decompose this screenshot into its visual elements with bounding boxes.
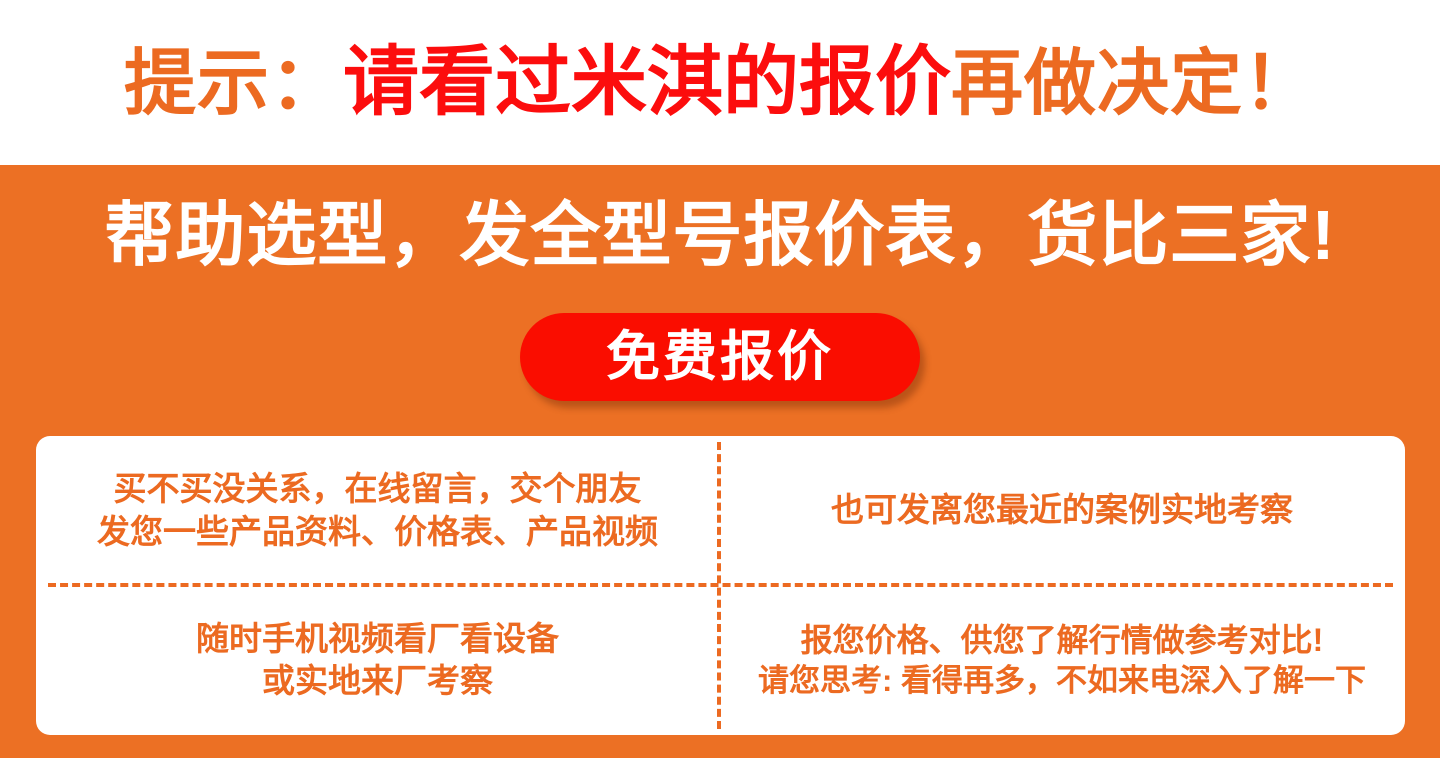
info-line: 买不买没关系，在线留言，交个朋友 bbox=[114, 468, 642, 510]
headline-emphasis: 请看过米淇的报价 bbox=[343, 40, 951, 125]
sub-headline: 帮助选型，发全型号报价表，货比三家! bbox=[0, 200, 1440, 270]
info-line: 报您价格、供您了解行情做参考对比! bbox=[801, 620, 1324, 661]
headline-strip: 提示：请看过米淇的报价再做决定！ bbox=[0, 0, 1440, 165]
info-line: 发您一些产品资料、价格表、产品视频 bbox=[97, 511, 658, 553]
info-card: 买不买没关系，在线留言，交个朋友 发您一些产品资料、价格表、产品视频 也可发离您… bbox=[36, 436, 1405, 735]
page-title: 提示：请看过米淇的报价再做决定！ bbox=[124, 45, 1316, 121]
info-line: 或实地来厂考察 bbox=[262, 660, 493, 702]
vertical-dashed-divider bbox=[717, 442, 721, 729]
promo-banner: 提示：请看过米淇的报价再做决定！ 帮助选型，发全型号报价表，货比三家! 免费报价… bbox=[0, 0, 1440, 766]
bottom-white-strip bbox=[0, 758, 1440, 766]
info-card-grid: 买不买没关系，在线留言，交个朋友 发您一些产品资料、价格表、产品视频 也可发离您… bbox=[36, 436, 1405, 735]
info-line: 随时手机视频看厂看设备 bbox=[196, 618, 559, 660]
info-cell-bottom-right: 报您价格、供您了解行情做参考对比! 请您思考: 看得再多，不如来电深入了解一下 bbox=[719, 585, 1405, 735]
info-line: 也可发离您最近的案例实地考察 bbox=[831, 489, 1293, 531]
free-quote-button[interactable]: 免费报价 bbox=[520, 313, 920, 401]
headline-prefix: 提示： bbox=[124, 44, 343, 124]
headline-suffix: 再做决定！ bbox=[951, 44, 1316, 124]
info-cell-top-right: 也可发离您最近的案例实地考察 bbox=[719, 436, 1405, 585]
info-cell-bottom-left: 随时手机视频看厂看设备 或实地来厂考察 bbox=[36, 585, 719, 735]
orange-content-band: 帮助选型，发全型号报价表，货比三家! 免费报价 买不买没关系，在线留言，交个朋友… bbox=[0, 165, 1440, 758]
info-line: 请您思考: 看得再多，不如来电深入了解一下 bbox=[758, 661, 1366, 701]
info-cell-top-left: 买不买没关系，在线留言，交个朋友 发您一些产品资料、价格表、产品视频 bbox=[36, 436, 719, 585]
cta-container: 免费报价 bbox=[0, 313, 1440, 401]
